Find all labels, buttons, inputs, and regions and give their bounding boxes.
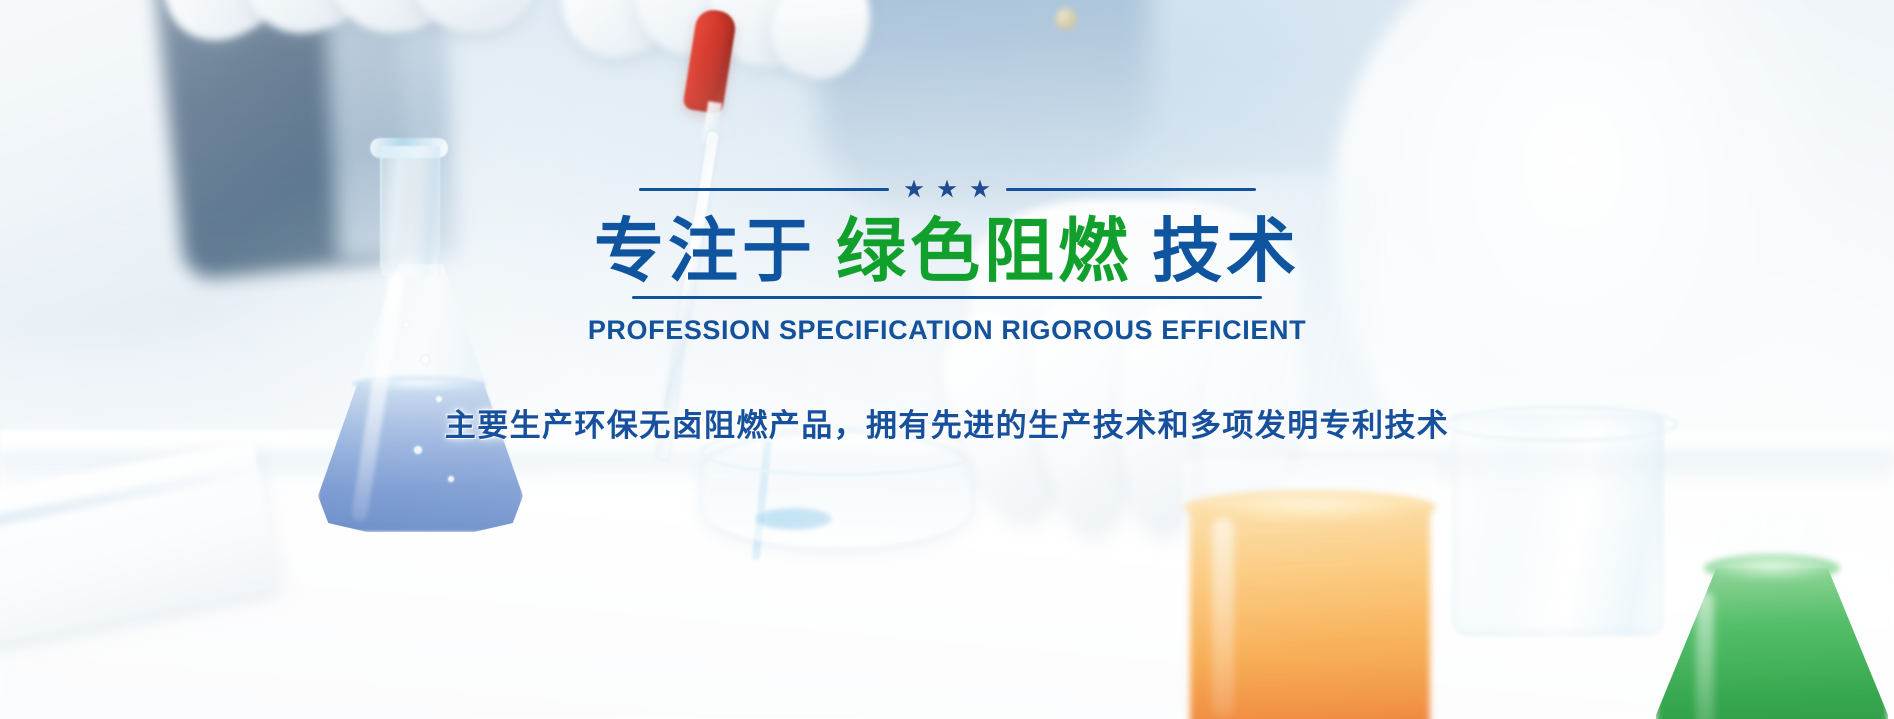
flask-liquid-green [1656,568,1888,719]
petri-dish-liquid [756,508,832,530]
hero-banner: 专注于绿色阻燃技术 PROFESSION SPECIFICATION RIGOR… [0,0,1894,719]
star-icon [905,180,924,199]
star-icon [938,180,957,199]
decoration-rule-row [0,178,1894,200]
star-group [905,180,990,199]
divider-under-title [632,296,1262,299]
headline-part-green-flame-retardant: 绿色阻燃 [836,212,1132,290]
beaker-icon-orange [1182,458,1438,719]
erlenmeyer-flask-icon-green [1652,512,1894,719]
headline-part-focus-on: 专注于 [594,212,816,290]
beaker-icon-clear [1452,414,1664,636]
page-tagline: 主要生产环保无卤阻燃产品，拥有先进的生产技术和多项发明专利技术 [0,400,1894,445]
pipette-bulb [682,7,737,114]
headline-part-technology: 技术 [1152,212,1300,290]
page-subtitle: PROFESSION SPECIFICATION RIGOROUS EFFICI… [0,315,1894,346]
divider-left [639,188,889,191]
divider-right [1006,188,1256,191]
shirt-button [1055,8,1077,30]
banner-content: 专注于绿色阻燃技术 PROFESSION SPECIFICATION RIGOR… [0,178,1894,445]
star-icon [971,180,990,199]
page-title: 专注于绿色阻燃技术 [0,212,1894,290]
